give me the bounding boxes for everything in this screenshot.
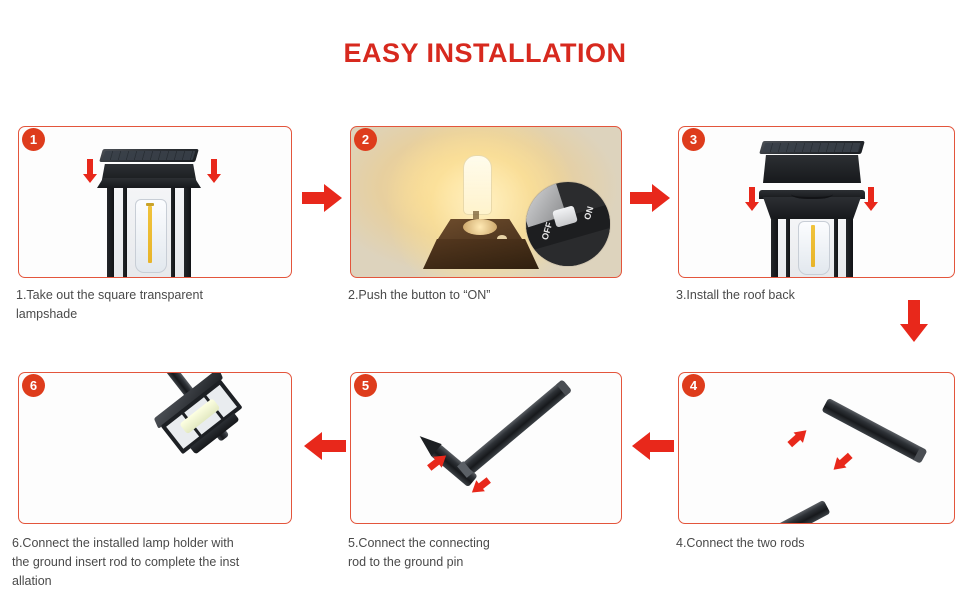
wire-icon (791, 187, 833, 199)
flow-arrow-1-to-2 (302, 184, 342, 212)
step-badge-4: 4 (682, 374, 705, 397)
filament-icon (148, 206, 152, 263)
lantern-post-left-inner-3 (786, 219, 790, 277)
solar-lantern-illustration-1 (19, 127, 291, 277)
lantern-post-left-3 (771, 219, 778, 277)
lantern-post-right-inner (171, 188, 175, 277)
flow-arrow-2-to-3 (630, 184, 670, 212)
step-caption-1: 1.Take out the square transparent lampsh… (16, 286, 306, 324)
lantern-post-right-inner-3 (834, 219, 838, 277)
assembled-lamp-illustration (19, 373, 291, 523)
lantern-post-right (184, 188, 191, 277)
flow-arrow-3-to-4 (900, 300, 928, 344)
rod-joint-gap (815, 439, 834, 458)
lantern-post-left-inner (123, 188, 127, 277)
flow-arrow-5-to-6 (304, 432, 346, 460)
solar-roof-illustration (679, 127, 954, 277)
two-rods-illustration (679, 373, 954, 523)
lamp-base-plate (423, 239, 539, 269)
detached-roof-body (763, 155, 861, 183)
solar-cell-grid-detached (763, 143, 862, 152)
page-title: EASY INSTALLATION (0, 38, 970, 69)
down-arrow-icon-right-3 (864, 187, 878, 213)
step-caption-6: 6.Connect the installed lamp holder with… (12, 534, 312, 591)
rod-icon-lower (725, 500, 831, 524)
step-badge-6: 6 (22, 374, 45, 397)
rod-upper-5 (458, 379, 572, 478)
assembled-lamp-icon (150, 372, 255, 469)
light-bulb-icon (463, 155, 492, 215)
rod-lower (725, 500, 831, 524)
lantern-post-right-3 (846, 219, 853, 277)
down-arrow-icon-left-3 (745, 187, 759, 213)
lamp-base-hub (463, 219, 497, 235)
step-panel-3 (678, 126, 955, 278)
filament-lead (146, 203, 154, 206)
lantern-shoulder (763, 197, 861, 219)
step-panel-5 (350, 372, 622, 524)
step-panel-1 (18, 126, 292, 278)
step-panel-2: OFF ON (350, 126, 622, 278)
step-panel-4 (678, 372, 955, 524)
step-badge-5: 5 (354, 374, 377, 397)
step-caption-4: 4.Connect the two rods (676, 534, 966, 553)
step-badge-3: 3 (682, 128, 705, 151)
lit-bulb-illustration: OFF ON (351, 127, 621, 277)
down-arrow-icon-left (83, 159, 97, 185)
step-panel-6 (18, 372, 292, 524)
solar-panel-icon (99, 149, 199, 162)
step-badge-1: 1 (22, 128, 45, 151)
solar-cell-grid (103, 151, 196, 160)
rod-ground-pin-illustration (351, 373, 621, 523)
join-arrow-icon-down (825, 448, 856, 479)
step-caption-5: 5.Connect the connecting rod to the grou… (348, 534, 638, 572)
switch-closeup-inset: OFF ON (526, 182, 610, 266)
step-caption-2: 2.Push the button to “ON” (348, 286, 638, 305)
down-arrow-icon-right (207, 159, 221, 185)
filament-icon-3 (811, 225, 815, 267)
flow-arrow-4-to-5 (632, 432, 674, 460)
join-arrow-icon-up (783, 422, 814, 453)
solar-panel-icon-detached (759, 141, 865, 154)
step-badge-2: 2 (354, 128, 377, 151)
rod-icon-5 (458, 379, 572, 478)
lantern-cap-skirt (97, 178, 201, 188)
lantern-post-left (107, 188, 114, 277)
